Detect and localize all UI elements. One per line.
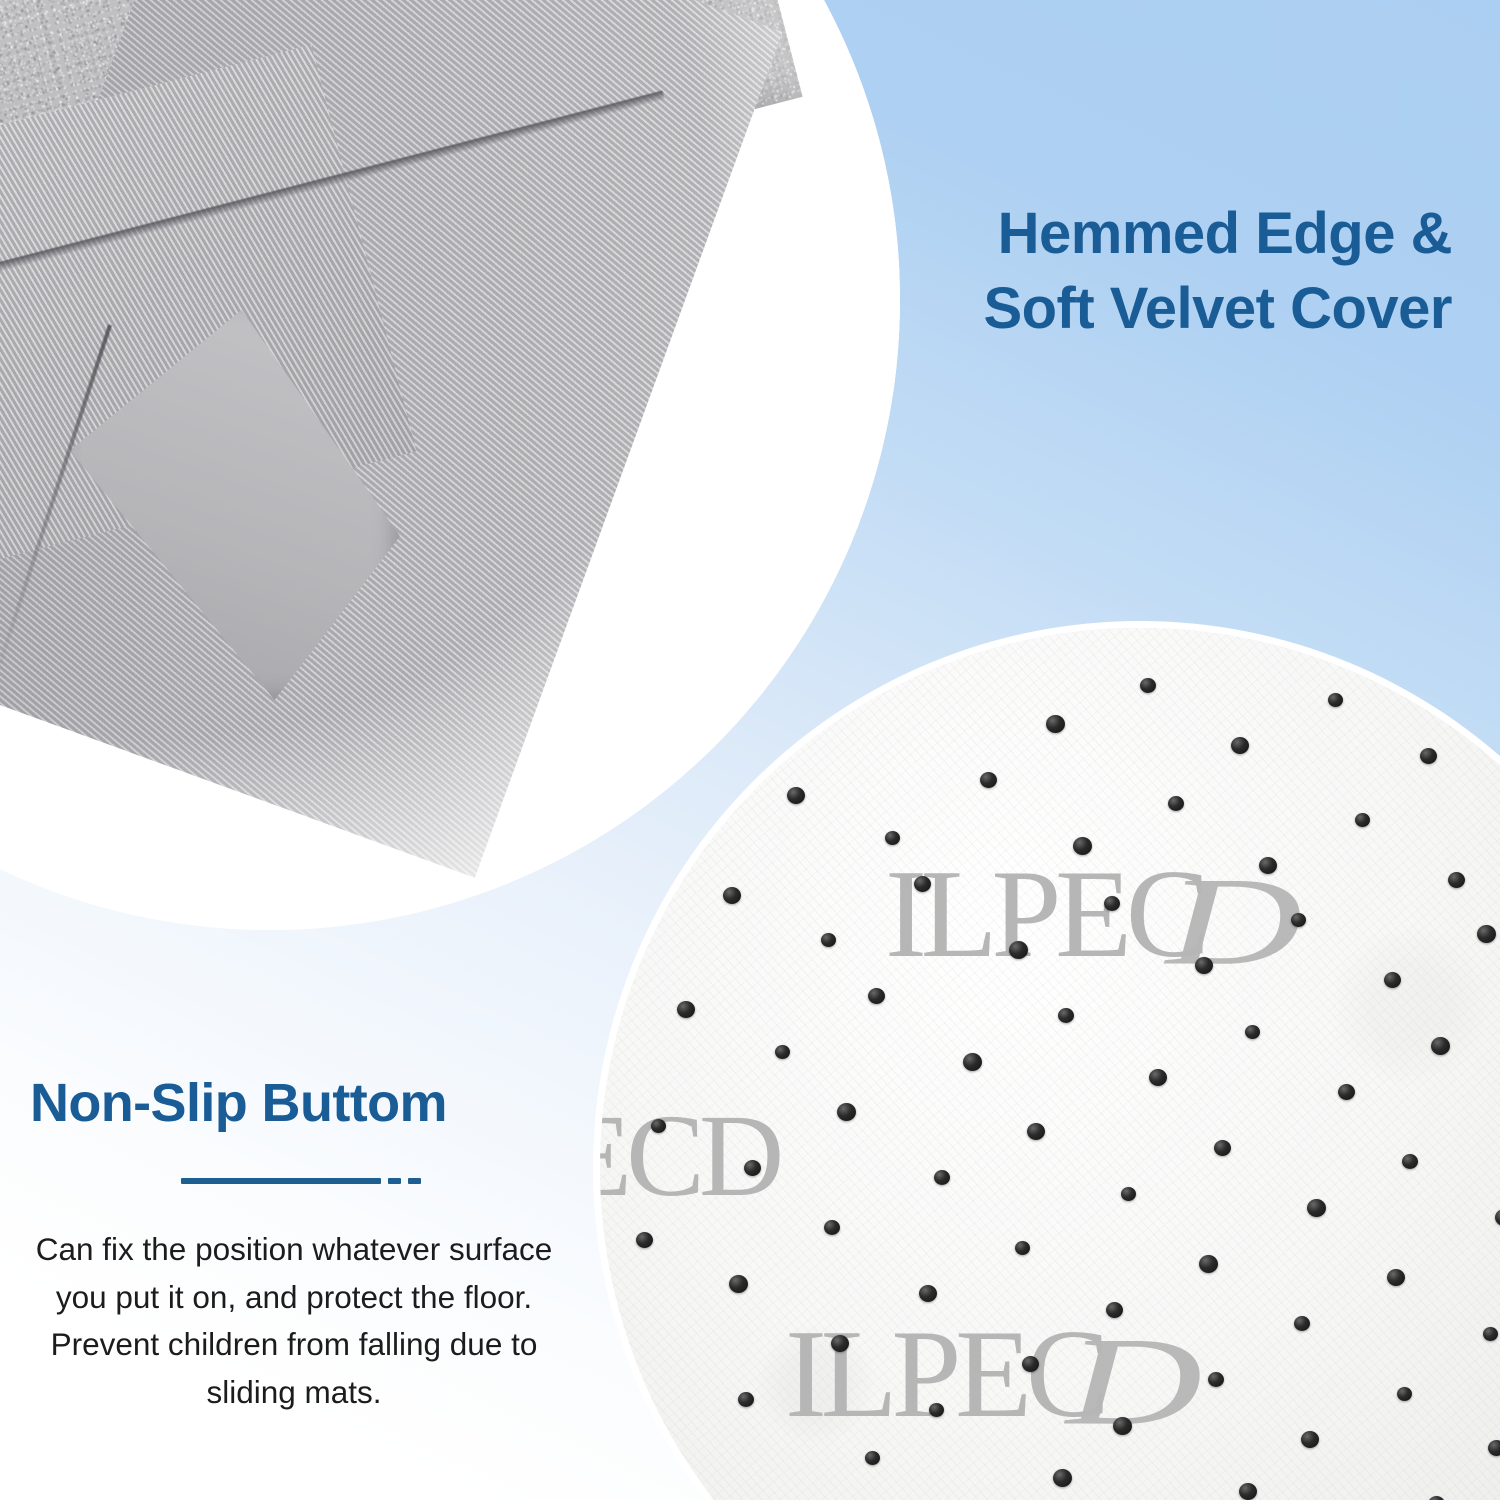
anti-slip-dot (1294, 1316, 1310, 1331)
mat-watermark-logo: ILPECD (885, 858, 1243, 971)
anti-slip-dot (865, 1451, 880, 1465)
anti-slip-dot (677, 1001, 695, 1018)
anti-slip-dot (1058, 1008, 1074, 1023)
anti-slip-dot (963, 1053, 982, 1071)
anti-slip-dot (1239, 1483, 1257, 1500)
anti-slip-dot (729, 1275, 748, 1293)
headline-line-1: Hemmed Edge & (812, 196, 1452, 271)
anti-slip-dot (1106, 1302, 1123, 1318)
anti-slip-dot (919, 1285, 937, 1302)
anti-slip-dot (1214, 1140, 1231, 1156)
headline-line-2: Soft Velvet Cover (812, 271, 1452, 346)
page-headline: Hemmed Edge & Soft Velvet Cover (812, 196, 1452, 347)
divider-tick (388, 1178, 401, 1184)
feature-body-line: Can fix the position whatever surface (24, 1226, 564, 1274)
feature-title: Non-Slip Buttom (24, 1075, 564, 1132)
anti-slip-dot (1291, 913, 1306, 927)
anti-slip-dot (1245, 1025, 1260, 1039)
anti-slip-dot (824, 1220, 840, 1235)
divider (38, 1178, 564, 1184)
anti-slip-dot (1195, 957, 1213, 974)
anti-slip-dot (1420, 748, 1437, 764)
anti-slip-dot (1015, 1241, 1030, 1255)
anti-slip-dot (1355, 813, 1370, 827)
anti-slip-dot (868, 988, 885, 1004)
product-feature-infographic: ILPECD ECD ILPECD Hemmed Edge & Soft Vel… (0, 0, 1500, 1500)
anti-slip-dot (1208, 1372, 1224, 1387)
anti-slip-dot (1477, 925, 1496, 943)
anti-slip-dot (738, 1392, 754, 1407)
divider-bar (181, 1178, 381, 1184)
anti-slip-dot (1397, 1387, 1412, 1401)
non-slip-backing-photo: ILPECD ECD ILPECD (600, 628, 1500, 1500)
anti-slip-dot (1053, 1469, 1072, 1487)
anti-slip-dot (1073, 837, 1092, 855)
anti-slip-dot (1338, 1084, 1355, 1100)
anti-slip-dot (1448, 872, 1465, 888)
anti-slip-dot (934, 1170, 950, 1185)
anti-slip-dot (723, 887, 741, 904)
feature-block: Non-Slip Buttom Can fix the position wha… (24, 1075, 564, 1417)
anti-slip-dot (1483, 1327, 1498, 1341)
anti-slip-dot (1384, 972, 1401, 988)
anti-slip-dot (1168, 796, 1184, 811)
anti-slip-dot (1104, 896, 1120, 911)
feature-body-line: you put it on, and protect the floor. (24, 1274, 564, 1322)
anti-slip-dot (1046, 715, 1065, 733)
anti-slip-dot (831, 1335, 849, 1352)
anti-slip-dot (1231, 737, 1249, 754)
anti-slip-dot (636, 1232, 653, 1248)
anti-slip-dot (885, 831, 900, 845)
anti-slip-dot (1328, 693, 1343, 707)
anti-slip-dot (1009, 941, 1028, 959)
divider-tick (408, 1178, 421, 1184)
anti-slip-dot (787, 787, 805, 804)
feature-body-line: Prevent children from falling due to (24, 1321, 564, 1369)
anti-slip-dot (1301, 1431, 1319, 1448)
anti-slip-dot (1149, 1069, 1167, 1086)
anti-slip-dot (1022, 1356, 1039, 1372)
anti-slip-dot (1121, 1187, 1136, 1201)
anti-slip-dot (837, 1103, 856, 1121)
anti-slip-dot (929, 1403, 944, 1417)
anti-slip-dot (1431, 1037, 1450, 1055)
feature-description: Can fix the position whatever surface yo… (24, 1226, 564, 1418)
anti-slip-dot (1199, 1255, 1218, 1273)
anti-slip-dot (1140, 678, 1156, 693)
feature-body-line: sliding mats. (24, 1369, 564, 1417)
anti-slip-dot (914, 876, 931, 892)
anti-slip-dot (1402, 1154, 1418, 1169)
anti-slip-dot (744, 1160, 761, 1176)
anti-slip-dot (1387, 1269, 1405, 1286)
mat-watermark-logo: ECD (600, 1103, 778, 1209)
anti-slip-dot (651, 1119, 666, 1133)
anti-slip-dot (1488, 1440, 1500, 1456)
anti-slip-dot (775, 1045, 790, 1059)
anti-slip-dot (1027, 1123, 1045, 1140)
anti-slip-dot (1259, 857, 1277, 874)
anti-slip-dot (821, 933, 836, 947)
anti-slip-dot (1113, 1417, 1132, 1435)
anti-slip-dot (980, 772, 997, 788)
anti-slip-dot (1307, 1199, 1326, 1217)
